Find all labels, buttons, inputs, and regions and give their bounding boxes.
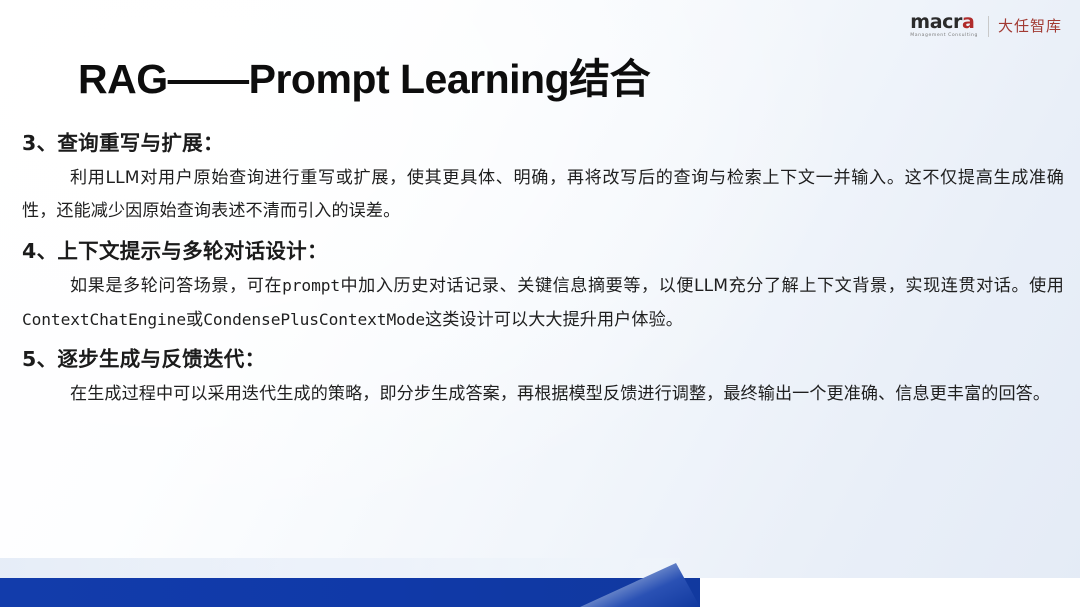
section-5-paragraph: 在生成过程中可以采用迭代生成的策略，即分步生成答案，再根据模型反馈进行调整，最终… (22, 378, 1064, 412)
section-4-code-contextchatengine: ContextChatEngine (22, 310, 186, 329)
section-4-code-condenseplus: CondensePlusContextMode (203, 310, 425, 329)
section-3-paragraph: 利用LLM对用户原始查询进行重写或扩展，使其更具体、明确，再将改写后的查询与检索… (22, 162, 1064, 229)
section-5: 5、逐步生成与反馈迭代： 在生成过程中可以采用迭代生成的策略，即分步生成答案，再… (22, 344, 1064, 411)
footer-decoration (0, 555, 1080, 607)
section-3-heading: 3、查询重写与扩展： (22, 128, 1064, 159)
slide-body: 3、查询重写与扩展： 利用LLM对用户原始查询进行重写或扩展，使其更具体、明确，… (22, 128, 1064, 416)
section-4-paragraph: 如果是多轮问答场景，可在prompt中加入历史对话记录、关键信息摘要等，以便LL… (22, 270, 1064, 337)
logo-word-accent: a (962, 11, 974, 33)
footer-shade (0, 558, 680, 578)
section-4-heading: 4、上下文提示与多轮对话设计： (22, 236, 1064, 267)
section-4-code-prompt: prompt (282, 276, 340, 295)
section-3: 3、查询重写与扩展： 利用LLM对用户原始查询进行重写或扩展，使其更具体、明确，… (22, 128, 1064, 229)
logo-word-main: macr (910, 11, 962, 33)
brand-logo: macra Management Consulting 大任智库 (910, 9, 1062, 43)
section-4-text-d: 这类设计可以大大提升用户体验。 (425, 310, 683, 330)
section-5-heading: 5、逐步生成与反馈迭代： (22, 344, 1064, 375)
logo-divider (988, 16, 989, 37)
section-4: 4、上下文提示与多轮对话设计： 如果是多轮问答场景，可在prompt中加入历史对… (22, 236, 1064, 337)
logo-tagline: Management Consulting (910, 34, 978, 39)
section-4-text-c: 或 (186, 310, 203, 330)
slide-canvas: macra Management Consulting 大任智库 RAG——Pr… (0, 0, 1080, 607)
section-4-text-a: 如果是多轮问答场景，可在 (70, 276, 282, 296)
logo-chinese-name: 大任智库 (998, 19, 1062, 34)
page-title: RAG——Prompt Learning结合 (78, 56, 650, 103)
logo-wordmark: macra Management Consulting (910, 13, 988, 39)
section-4-text-b: 中加入历史对话记录、关键信息摘要等，以便LLM充分了解上下文背景，实现连贯对话。… (340, 276, 1064, 296)
logo-word-text: macra (910, 13, 974, 32)
